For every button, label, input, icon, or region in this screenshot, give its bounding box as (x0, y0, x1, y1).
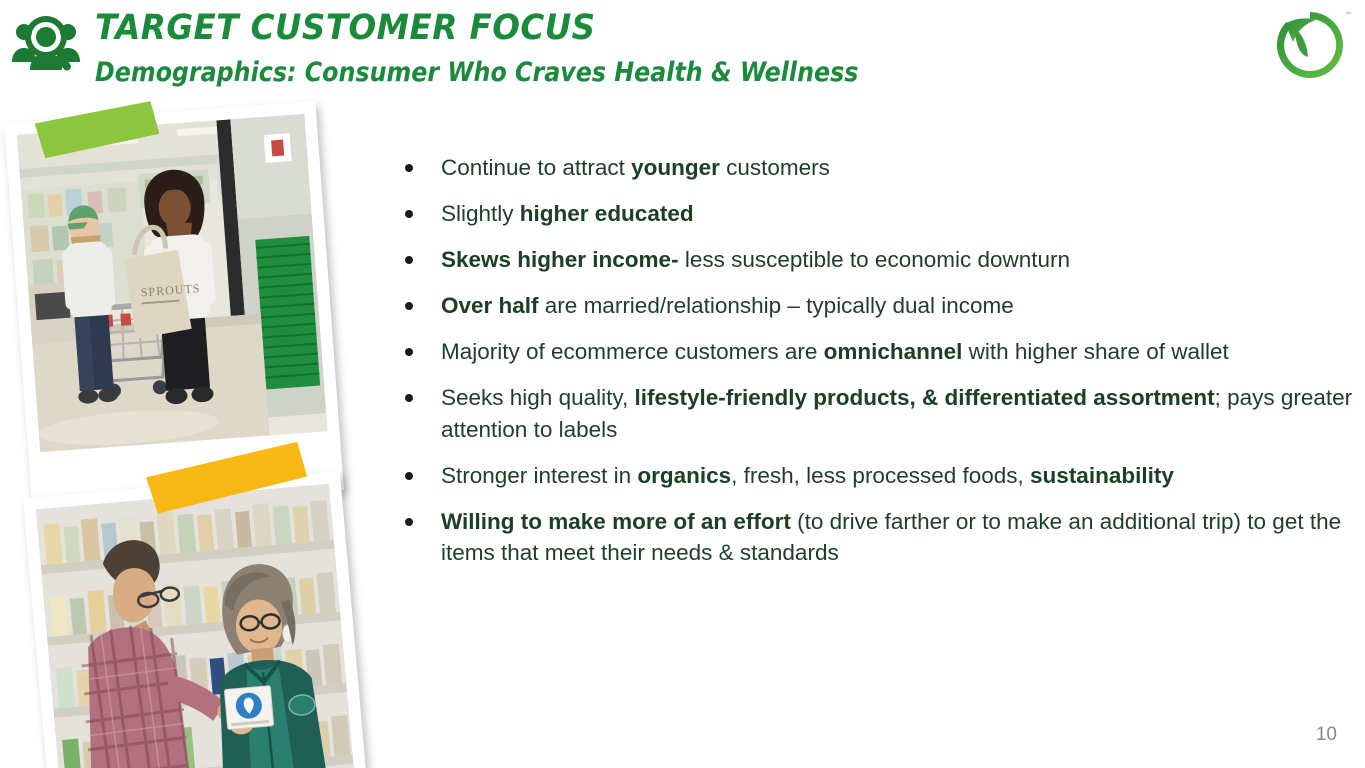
bullet-emphasis: omnichannel (824, 339, 963, 364)
bullet-higher-income: Skews higher income- less susceptible to… (395, 244, 1355, 276)
bullet-emphasis: Willing to make more of an effort (441, 509, 791, 534)
bullet-emphasis: younger (631, 155, 720, 180)
photo-collage: SPROUTS (0, 104, 400, 768)
bullet-emphasis: organics (637, 463, 731, 488)
bullet-content: Continue to attract younger customersSli… (395, 152, 1355, 583)
photo-shoppers-image: SPROUTS (17, 114, 328, 452)
bullet-higher-educated: Slightly higher educated (395, 198, 1355, 230)
bullet-text: with higher share of wallet (962, 339, 1228, 364)
bullet-text: Majority of ecommerce customers are (441, 339, 824, 364)
bullet-text: are married/relationship – typically dua… (539, 293, 1014, 318)
slide-header: TARGET CUSTOMER FOCUS Demographics: Cons… (0, 0, 1365, 112)
trademark-symbol: ™ (1345, 12, 1351, 18)
bullet-text: customers (720, 155, 830, 180)
bullet-omnichannel: Majority of ecommerce customers are omni… (395, 336, 1355, 368)
bullet-quality-assortment: Seeks high quality, lifestyle-friendly p… (395, 382, 1355, 446)
bullet-emphasis: Over half (441, 293, 539, 318)
bullet-text: , fresh, less processed foods, (731, 463, 1030, 488)
bullet-text: Continue to attract (441, 155, 631, 180)
bullet-list: Continue to attract younger customersSli… (395, 152, 1355, 569)
bullet-emphasis: higher educated (520, 201, 694, 226)
bullet-emphasis: Skews higher income- (441, 247, 679, 272)
bullet-organics-sustainability: Stronger interest in organics, fresh, le… (395, 460, 1355, 492)
bullet-text: Stronger interest in (441, 463, 637, 488)
bullet-willing-effort: Willing to make more of an effort (to dr… (395, 506, 1355, 570)
sprouts-leaf-logo (1273, 8, 1347, 82)
bullet-younger-customers: Continue to attract younger customers (395, 152, 1355, 184)
bullet-text: Slightly (441, 201, 520, 226)
slide-root: TARGET CUSTOMER FOCUS Demographics: Cons… (0, 0, 1365, 768)
bullet-married-dual-income: Over half are married/relationship – typ… (395, 290, 1355, 322)
title-block: TARGET CUSTOMER FOCUS Demographics: Cons… (95, 10, 962, 87)
bullet-emphasis: lifestyle-friendly products, & different… (634, 385, 1214, 410)
bullet-emphasis: sustainability (1030, 463, 1174, 488)
photo-customer-with-associate (23, 471, 371, 768)
audience-research-icon (8, 12, 86, 74)
bullet-text: Seeks high quality, (441, 385, 634, 410)
page-title: TARGET CUSTOMER FOCUS (95, 10, 902, 48)
page-number: 10 (1316, 724, 1337, 746)
photo-associate-image (36, 484, 356, 768)
bullet-text: less susceptible to economic downturn (679, 247, 1070, 272)
page-subtitle: Demographics: Consumer Who Craves Health… (95, 58, 858, 88)
